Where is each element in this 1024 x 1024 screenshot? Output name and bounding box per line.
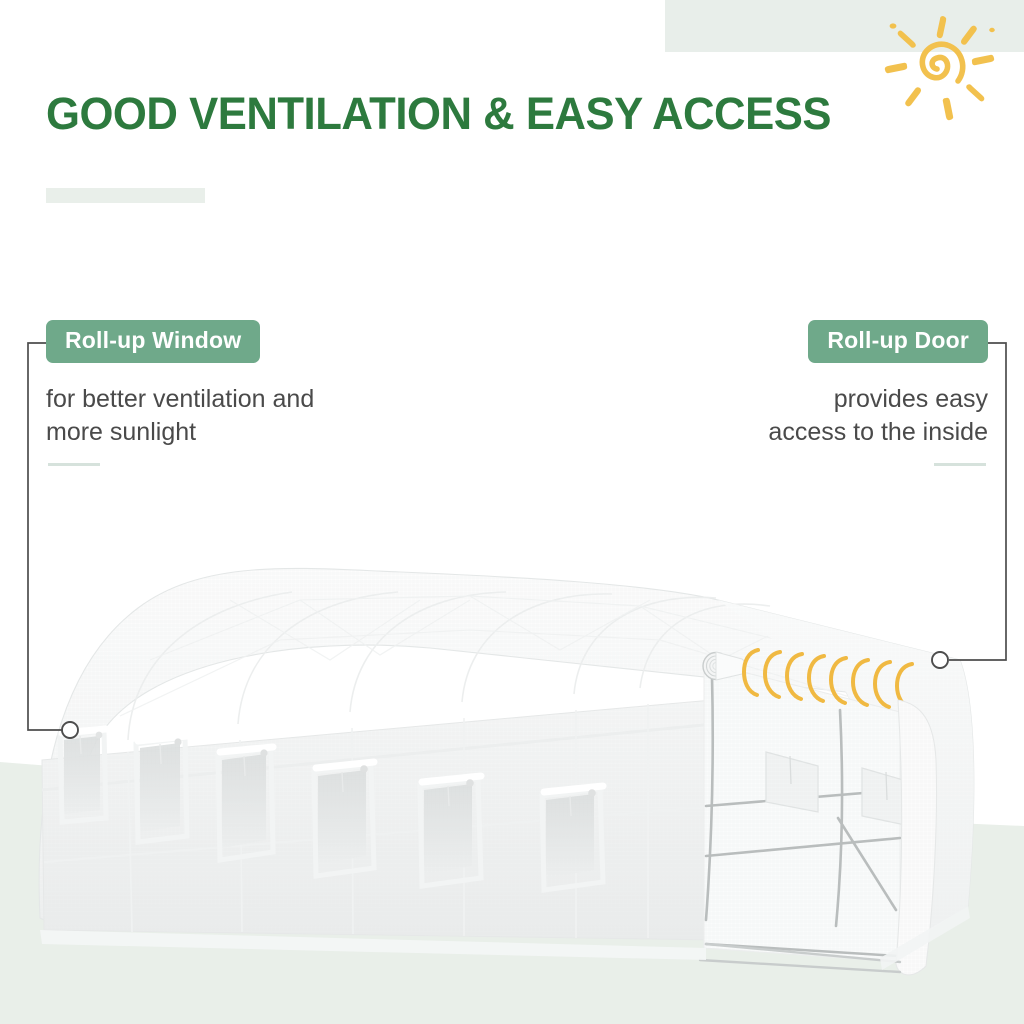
description-roll-up-window: for better ventilation and more sunlight bbox=[46, 383, 426, 449]
greenhouse-illustration bbox=[0, 0, 1024, 1024]
description-roll-up-door: provides easy access to the inside bbox=[688, 383, 988, 449]
callout-roll-up-window: Roll-up Window for better ventilation an… bbox=[46, 320, 426, 466]
callout-roll-up-door: Roll-up Door provides easy access to the… bbox=[688, 320, 988, 466]
accent-underline-window bbox=[48, 463, 100, 466]
badge-roll-up-door[interactable]: Roll-up Door bbox=[808, 320, 988, 363]
accent-underline-door bbox=[934, 463, 986, 466]
badge-roll-up-window[interactable]: Roll-up Window bbox=[46, 320, 260, 363]
infographic-canvas: GOOD VENTILATION & EASY ACCESS bbox=[0, 0, 1024, 1024]
